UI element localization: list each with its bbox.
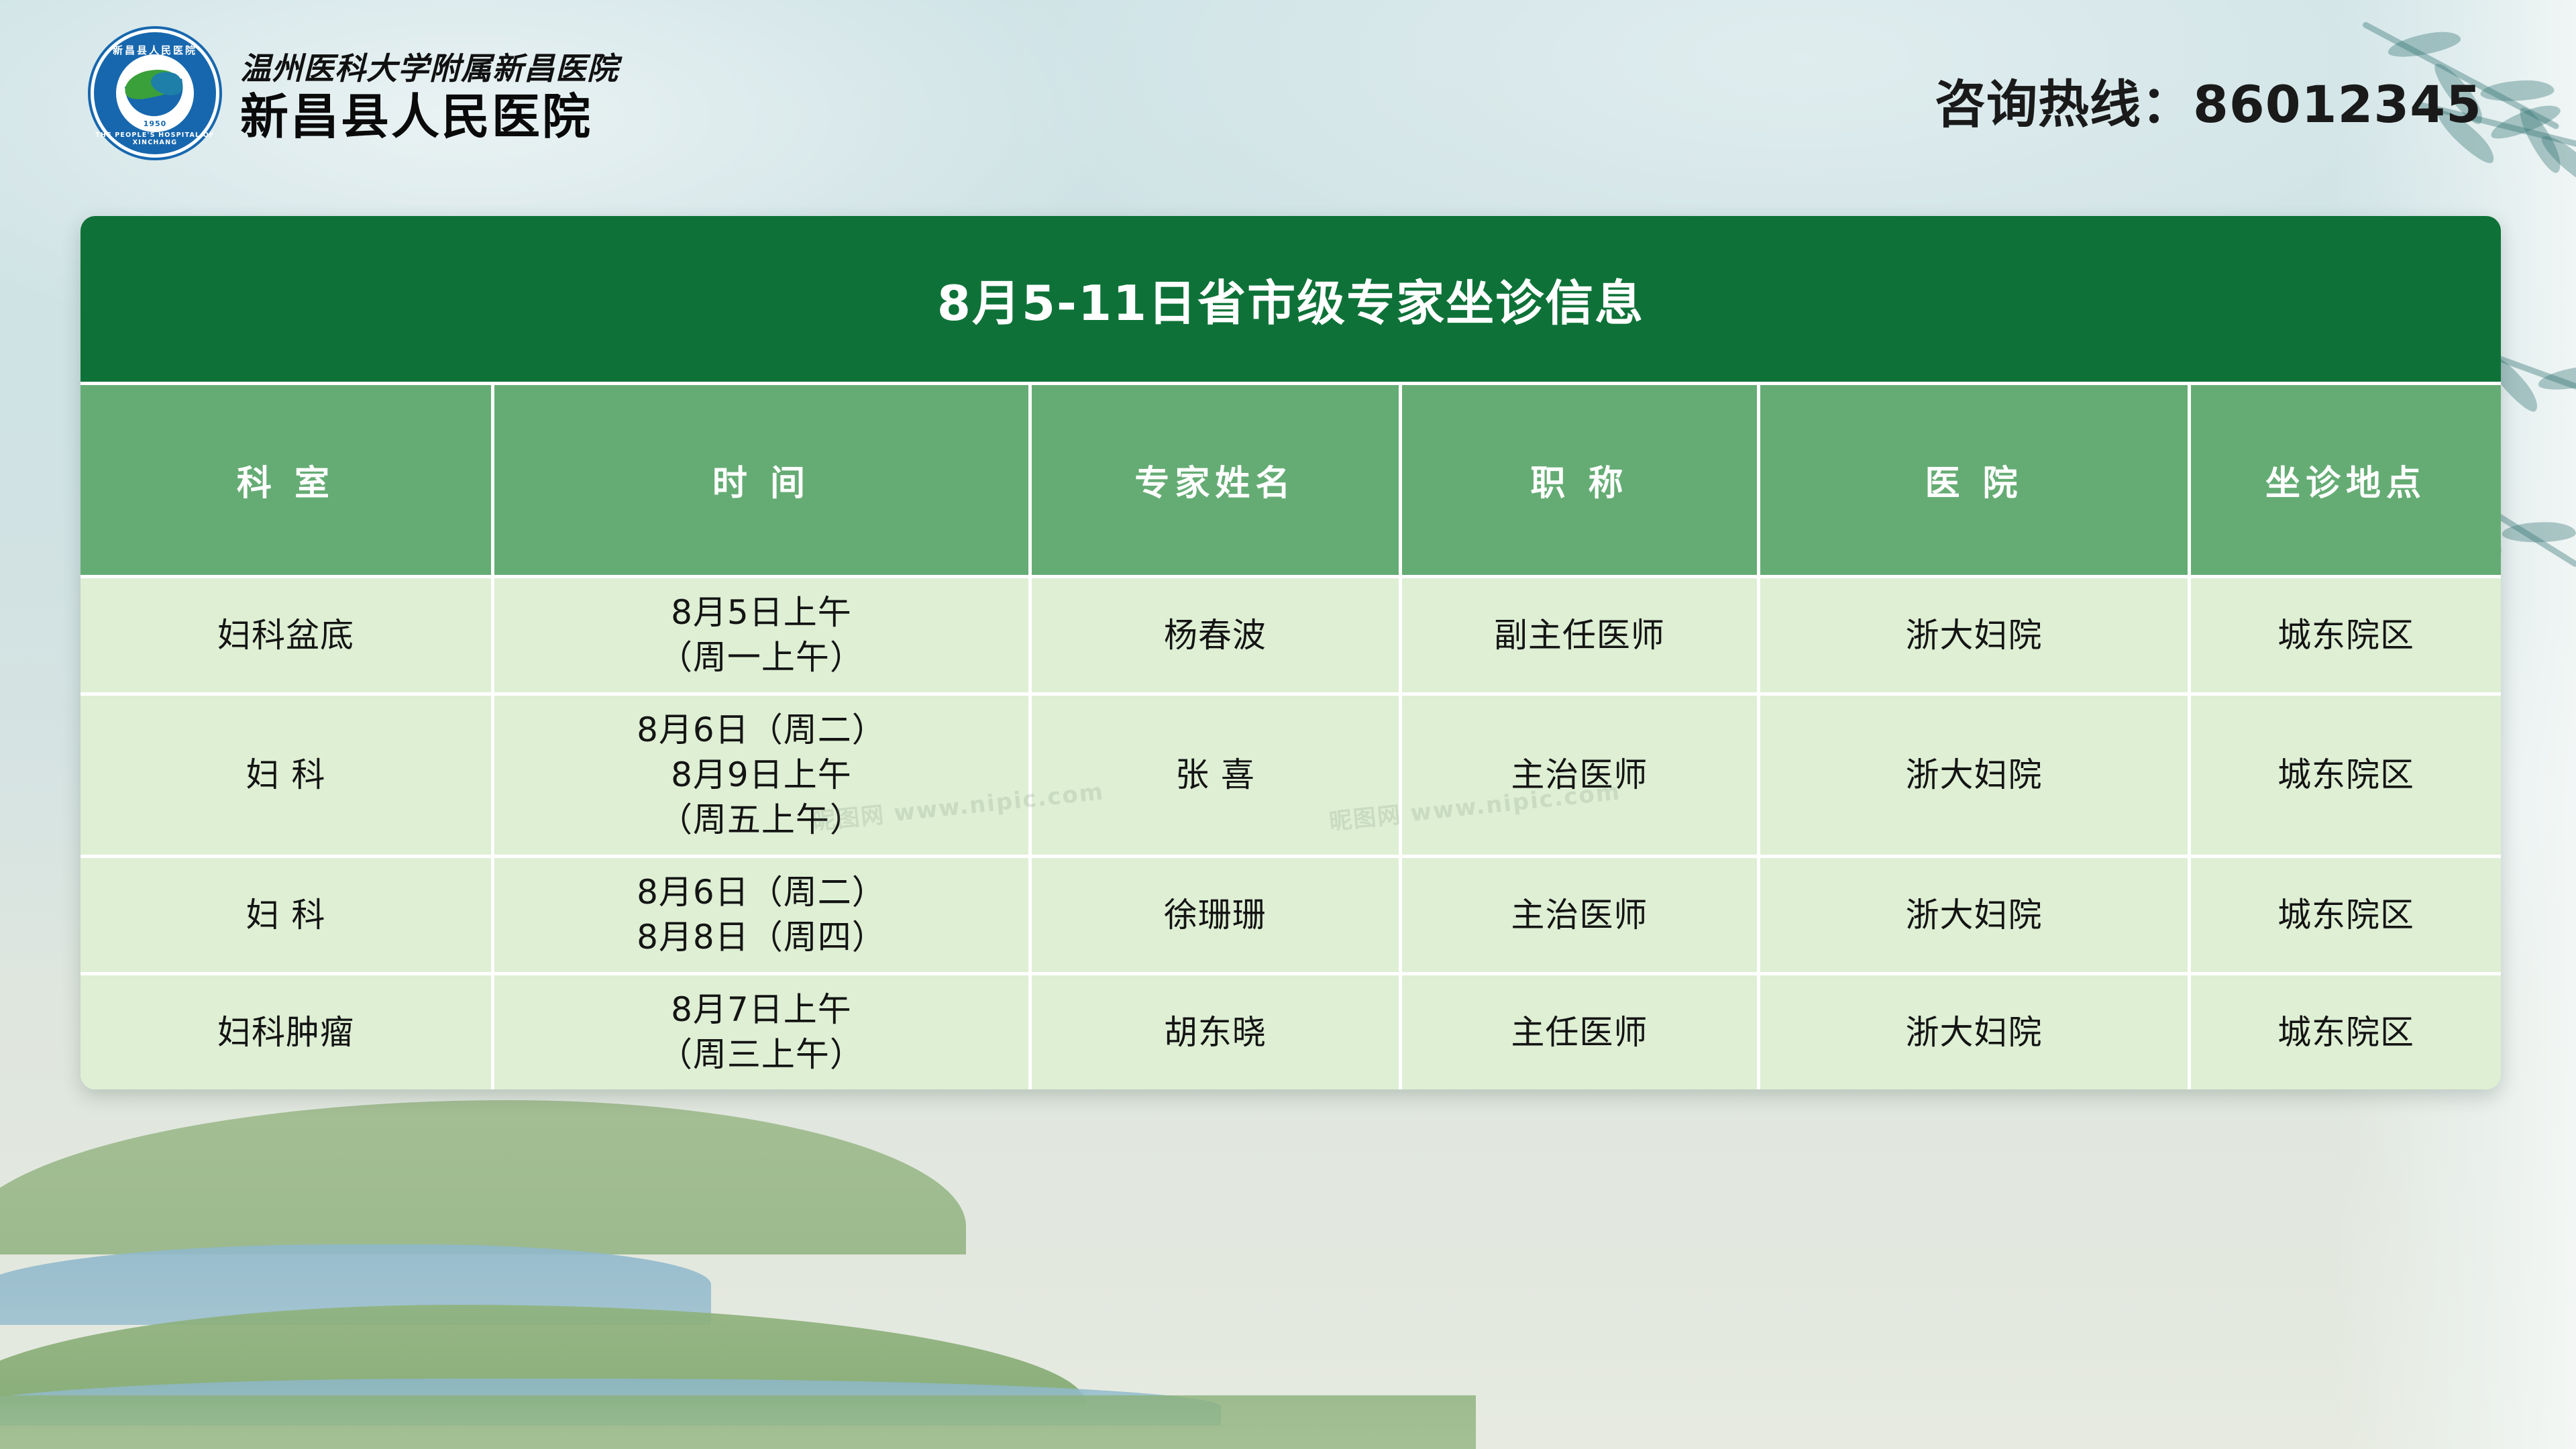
- brand-affiliate-name: 温州医科大学附属新昌医院: [240, 44, 619, 89]
- cell-time: 8月5日上午（周一上午）: [494, 578, 1032, 696]
- table-row: 妇 科8月6日（周二）8月8日（周四）徐珊珊主治医师浙大妇院城东院区: [80, 858, 2501, 975]
- cell-name: 徐珊珊: [1032, 858, 1402, 975]
- cell-title: 副主任医师: [1402, 578, 1760, 696]
- cell-dept: 妇科盆底: [80, 578, 494, 696]
- cell-time-line: 8月7日上午: [500, 987, 1023, 1032]
- cell-time-line: （周一上午）: [500, 635, 1023, 680]
- schedule-title: 8月5-11日省市级专家坐诊信息: [80, 216, 2501, 385]
- cell-hosp: 浙大妇院: [1760, 975, 2191, 1089]
- cell-hosp: 浙大妇院: [1760, 696, 2191, 858]
- column-header-hosp: 医 院: [1760, 385, 2191, 578]
- cell-time-line: 8月6日（周二）: [500, 870, 1023, 915]
- cell-title: 主治医师: [1402, 696, 1760, 858]
- cell-time: 8月7日上午（周三上午）: [494, 975, 1032, 1089]
- cell-time-line: 8月9日上午: [500, 753, 1023, 798]
- hotline-text: 咨询热线：86012345: [1935, 63, 2482, 137]
- cell-time: 8月6日（周二）8月9日上午（周五上午）: [494, 696, 1032, 858]
- background-ground: [0, 1395, 1476, 1449]
- brand-hospital-name: 新昌县人民医院: [240, 91, 619, 142]
- table-body: 妇科盆底8月5日上午（周一上午）杨春波副主任医师浙大妇院城东院区妇 科8月6日（…: [80, 578, 2501, 1089]
- brand-text-block: 温州医科大学附属新昌医院 新昌县人民医院: [240, 44, 619, 142]
- cell-name: 张 喜: [1032, 696, 1402, 858]
- logo-year: 1950: [144, 119, 167, 128]
- column-header-dept: 科 室: [80, 385, 494, 578]
- cell-time-line: 8月6日（周二）: [500, 708, 1023, 753]
- column-header-time: 时 间: [494, 385, 1032, 578]
- column-header-name: 专家姓名: [1032, 385, 1402, 578]
- cell-loc: 城东院区: [2191, 858, 2501, 975]
- cell-loc: 城东院区: [2191, 696, 2501, 858]
- table-header: 科 室 时 间 专家姓名 职 称 医 院 坐诊地点: [80, 385, 2501, 578]
- cell-title: 主治医师: [1402, 858, 1760, 975]
- brand-block: 新昌县人民医院 1950 THE PEOPLE'S HOSPITAL OF XI…: [94, 32, 619, 154]
- cell-hosp: 浙大妇院: [1760, 578, 2191, 696]
- cell-loc: 城东院区: [2191, 578, 2501, 696]
- cell-time-line: （周三上午）: [500, 1032, 1023, 1077]
- cell-time-line: 8月8日（周四）: [500, 915, 1023, 960]
- cell-title: 主任医师: [1402, 975, 1760, 1089]
- table-row: 妇科盆底8月5日上午（周一上午）杨春波副主任医师浙大妇院城东院区: [80, 578, 2501, 696]
- schedule-table: 科 室 时 间 专家姓名 职 称 医 院 坐诊地点 妇科盆底8月5日上午（周一上…: [80, 385, 2501, 1089]
- table-row: 妇科肿瘤8月7日上午（周三上午）胡东晓主任医师浙大妇院城东院区: [80, 975, 2501, 1089]
- page-header: 新昌县人民医院 1950 THE PEOPLE'S HOSPITAL OF XI…: [0, 0, 2576, 201]
- cell-time-line: （周五上午）: [500, 798, 1023, 843]
- cell-time-line: 8月5日上午: [500, 590, 1023, 635]
- column-header-title: 职 称: [1402, 385, 1760, 578]
- cell-hosp: 浙大妇院: [1760, 858, 2191, 975]
- table-header-row: 科 室 时 间 专家姓名 职 称 医 院 坐诊地点: [80, 385, 2501, 578]
- schedule-card: 8月5-11日省市级专家坐诊信息 科 室 时 间 专家姓名 职 称 医 院 坐诊…: [80, 216, 2501, 1089]
- cell-dept: 妇科肿瘤: [80, 975, 494, 1089]
- cell-name: 胡东晓: [1032, 975, 1402, 1089]
- cell-name: 杨春波: [1032, 578, 1402, 696]
- cell-time: 8月6日（周二）8月8日（周四）: [494, 858, 1032, 975]
- hospital-logo-icon: 新昌县人民医院 1950 THE PEOPLE'S HOSPITAL OF XI…: [94, 32, 216, 154]
- logo-ring-bottom-text: THE PEOPLE'S HOSPITAL OF XINCHANG: [94, 131, 216, 146]
- logo-inner-disc: 1950: [116, 54, 194, 132]
- cell-dept: 妇 科: [80, 858, 494, 975]
- cell-loc: 城东院区: [2191, 975, 2501, 1089]
- column-header-loc: 坐诊地点: [2191, 385, 2501, 578]
- cell-dept: 妇 科: [80, 696, 494, 858]
- table-row: 妇 科8月6日（周二）8月9日上午（周五上午）张 喜主治医师浙大妇院城东院区: [80, 696, 2501, 858]
